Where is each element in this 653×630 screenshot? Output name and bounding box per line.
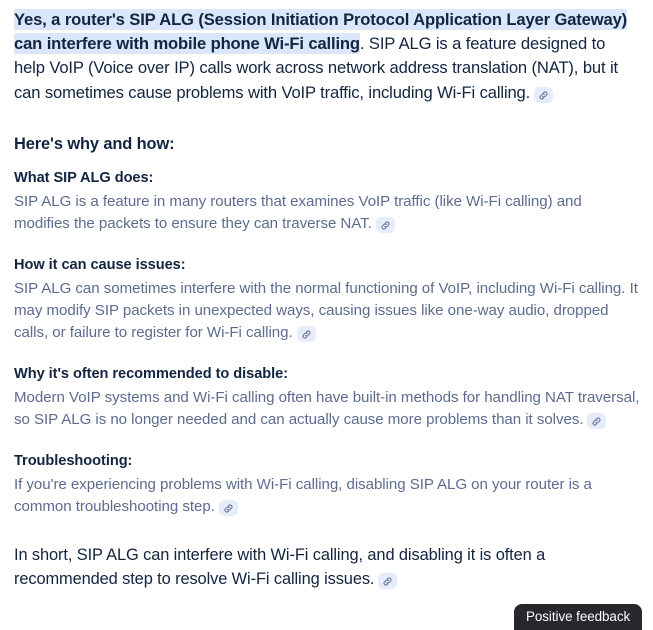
link-icon[interactable]	[219, 500, 238, 516]
section-body-text: SIP ALG is a feature in many routers tha…	[14, 193, 582, 232]
section-title: Here's why and how:	[14, 134, 640, 155]
sub-heading-why-recommended-to-disable: Why it's often recommended to disable:	[14, 364, 640, 384]
closing-paragraph: In short, SIP ALG can interfere with Wi-…	[14, 543, 640, 591]
spacer	[14, 518, 640, 543]
section-body-what-sip-alg-does: SIP ALG is a feature in many routers tha…	[14, 191, 640, 235]
spacer	[14, 105, 640, 134]
spacer	[14, 344, 640, 364]
spacer	[14, 431, 640, 451]
link-icon[interactable]	[378, 573, 397, 589]
spacer	[14, 235, 640, 255]
section-body-how-it-can-cause-issues: SIP ALG can sometimes interfere with the…	[14, 278, 640, 344]
section-body-why-recommended-to-disable: Modern VoIP systems and Wi-Fi calling of…	[14, 387, 640, 431]
link-icon[interactable]	[587, 413, 606, 429]
lead-paragraph: Yes, a router's SIP ALG (Session Initiat…	[14, 8, 640, 105]
section-body-troubleshooting: If you're experiencing problems with Wi-…	[14, 474, 640, 518]
sub-heading-how-it-can-cause-issues: How it can cause issues:	[14, 255, 640, 275]
ai-answer-pane: Yes, a router's SIP ALG (Session Initiat…	[0, 0, 653, 630]
sub-heading-what-sip-alg-does: What SIP ALG does:	[14, 168, 640, 188]
link-icon[interactable]	[376, 217, 395, 233]
closing-paragraph-text: In short, SIP ALG can interfere with Wi-…	[14, 546, 545, 588]
section-body-text: Modern VoIP systems and Wi-Fi calling of…	[14, 389, 639, 428]
positive-feedback-tooltip: Positive feedback	[514, 604, 642, 630]
spacer	[14, 155, 640, 168]
sub-heading-troubleshooting: Troubleshooting:	[14, 451, 640, 471]
section-body-text: If you're experiencing problems with Wi-…	[14, 476, 592, 515]
section-body-text: SIP ALG can sometimes interfere with the…	[14, 280, 638, 341]
link-icon[interactable]	[297, 326, 316, 342]
link-icon[interactable]	[534, 87, 553, 103]
